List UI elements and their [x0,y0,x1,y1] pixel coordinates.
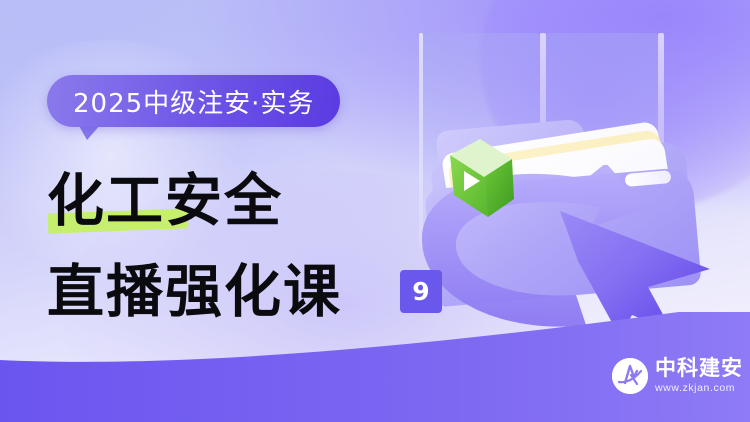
brand-logo-text: 中科建安 www.zkjan.com [655,358,743,394]
course-tag-badge: 2025中级注安·实务 [47,75,340,127]
course-promo-banner: 2025中级注安·实务 化工安全 直播强化课 9 中科建安 www.zkjan.… [0,0,750,422]
zkjan-circle-logo-icon [612,358,648,394]
page-title-line1: 化工安全 [47,155,283,237]
page-title-line2: 直播强化课 [47,246,342,328]
episode-number: 9 [412,277,429,306]
folder-documents-arrow-illustration [395,0,750,330]
green-play-cube [442,133,520,221]
brand-url: www.zkjan.com [655,383,743,394]
course-tag-label: 2025中级注安·实务 [73,83,314,120]
episode-number-badge: 9 [400,270,442,313]
brand-logo: 中科建安 www.zkjan.com [612,358,743,394]
brand-name: 中科建安 [655,358,743,379]
